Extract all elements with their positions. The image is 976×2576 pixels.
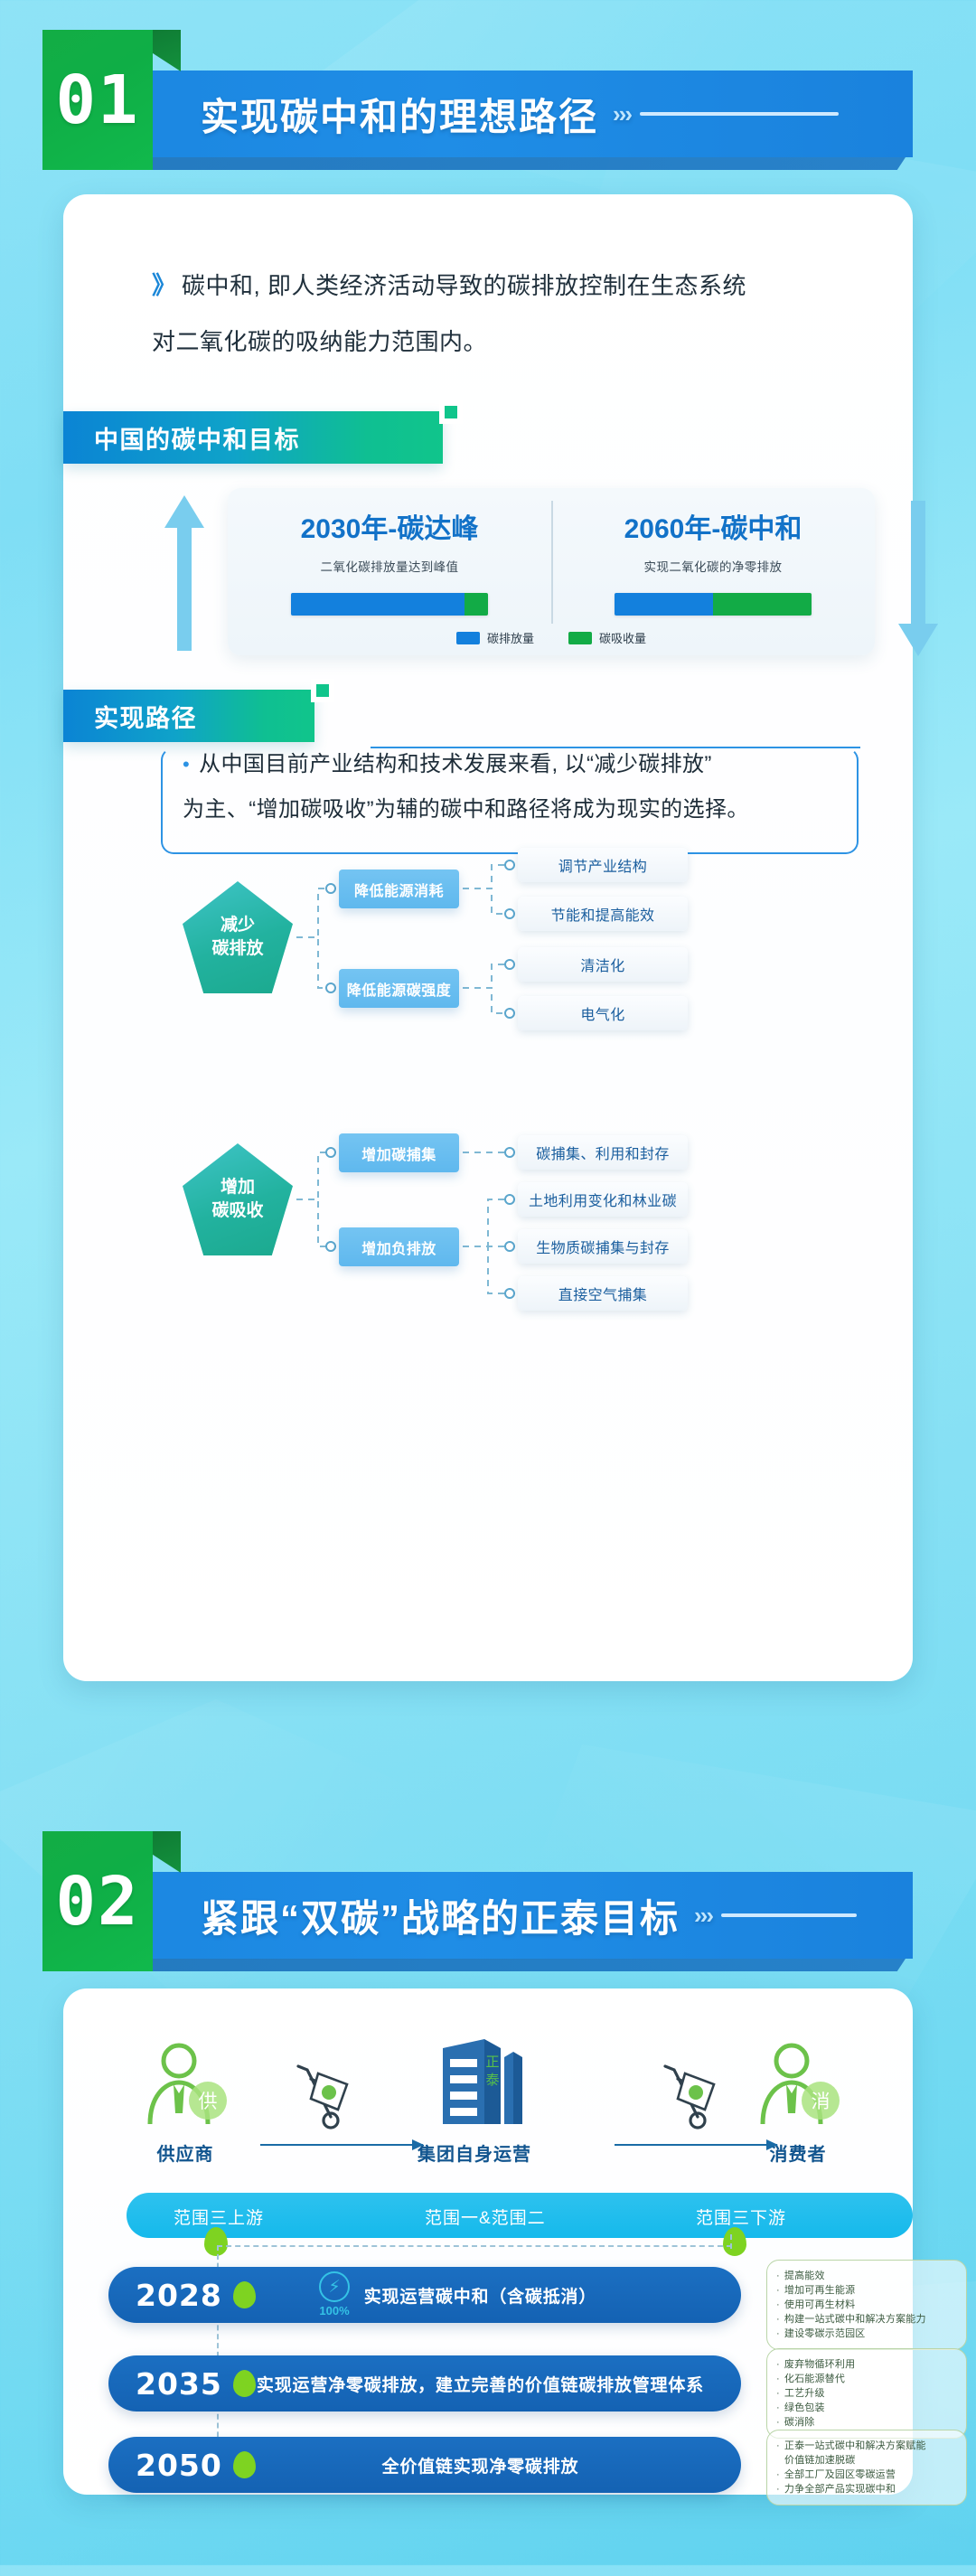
timeline-row-2028[interactable]: 2028 实现运营碳中和（含碳抵消） ⚡ 100%: [108, 2267, 741, 2323]
goal-title: 2030年-碳达峰: [228, 506, 551, 546]
section-header-01: 01 实现碳中和的理想路径 ›››: [0, 0, 976, 194]
tree-leaf-electrification[interactable]: 电气化: [518, 996, 688, 1030]
bar-segment-absorption: [465, 593, 488, 616]
chain-node-consumer: 消 消费者: [748, 2041, 848, 2166]
path-note-box: •从中国目前产业结构和技术发展来看, 以“减少碳排放” 为主、“增加碳吸收”为辅…: [161, 747, 859, 854]
timeline-row-2035[interactable]: 2035 实现运营净零碳排放，建立完善的价值链碳排放管理体系: [108, 2355, 741, 2411]
leaf-label: 碳捕集、利用和封存: [536, 1142, 670, 1163]
section-number-badge: 01: [42, 30, 153, 170]
consumer-person-icon: 消: [748, 2041, 848, 2128]
hand-truck-icon: [291, 2061, 363, 2129]
note-item: 化石能源替代: [776, 2372, 957, 2386]
china-goal-chart: 2030年-碳达峰 二氧化碳排放量达到峰值 2060年-碳中和 实现二氧化碳的净…: [172, 488, 931, 669]
target-timeline: 2028 实现运营碳中和（含碳抵消） ⚡ 100% 提高能效 增加可再生能源 使…: [108, 2251, 922, 2477]
root-line-1: 增加: [221, 1176, 255, 1199]
group-badge-text-2: 泰: [485, 2072, 499, 2088]
section-01-card: 》碳中和, 即人类经济活动导致的碳排放控制在生态系统 对二氧化碳的吸纳能力范围内…: [63, 194, 913, 1681]
mid-label: 降低能源消耗: [354, 879, 444, 900]
chain-arrow-right: [615, 2144, 777, 2146]
section-header-02: 02 紧跟“双碳”战略的正泰目标 ›››: [0, 1801, 976, 1996]
tree-leaf-lulucf[interactable]: 土地利用变化和林业碳: [518, 1182, 688, 1217]
supplier-badge-text: 供: [199, 2091, 218, 2112]
timeline-year: 2035: [136, 2366, 222, 2402]
band-notch-decoration: [311, 679, 334, 702]
stacked-bar-2060: [615, 593, 812, 616]
note-item: 碳消除: [776, 2415, 957, 2430]
hand-truck-icon: [658, 2061, 730, 2129]
note-item: 构建一站式碳中和解决方案能力: [776, 2312, 957, 2327]
mid-label: 增加负排放: [361, 1236, 436, 1258]
chain-node-supplier: 供 供应商: [136, 2041, 235, 2166]
note-item: 全部工厂及园区零碳运营: [776, 2468, 957, 2482]
timeline-note-2050: 正泰一站式碳中和解决方案赋能 价值链加速脱碳 全部工厂及园区零碳运营 力争全部产…: [766, 2430, 967, 2505]
arrow-down-icon: [898, 501, 938, 656]
path-band-label: 实现路径: [94, 699, 197, 734]
timeline-dot: [233, 2370, 256, 2397]
header-rule: [721, 1913, 857, 1917]
goal-subtitle: 实现二氧化碳的净零排放: [551, 557, 875, 575]
section-number-fold: [152, 30, 181, 71]
tree-leaf-ccus[interactable]: 碳捕集、利用和封存: [518, 1135, 688, 1170]
china-goal-band-label: 中国的碳中和目标: [94, 420, 300, 456]
legend-item-emission: 碳排放量: [456, 629, 534, 646]
lightning-bolt-icon: ⚡: [319, 2271, 350, 2302]
tree-mid-reduce-energy-use[interactable]: 降低能源消耗: [339, 870, 459, 908]
tree-leaf-beccs[interactable]: 生物质碳捕集与封存: [518, 1229, 688, 1264]
chain-arrow-right: [260, 2144, 423, 2146]
timeline-dot: [233, 2451, 256, 2478]
scope-label-upstream: 范围三上游: [174, 2205, 264, 2229]
section-header-bar-shadow: [70, 1959, 906, 1971]
leaf-label: 清洁化: [580, 954, 624, 975]
chain-node-label: 集团自身运营: [407, 2139, 542, 2166]
header-rule: [640, 112, 839, 116]
pathway-tree-diagram: 减少 碳排放 降低能源消耗 降低能源碳强度 调节产业结构 节能和提高能效 清洁化…: [127, 881, 913, 1442]
timeline-note-2035: 废弃物循环利用 化石能源替代 工艺升级 绿色包装 碳消除: [766, 2348, 967, 2439]
arrow-up-icon: [164, 495, 204, 651]
section-02-card: 供 供应商: [63, 1988, 913, 2495]
path-band: 实现路径: [63, 690, 314, 742]
tree-leaf-dac[interactable]: 直接空气捕集: [518, 1276, 688, 1311]
timeline-text: 全价值链实现净零碳排放: [256, 2453, 741, 2477]
note-item: 提高能效: [776, 2269, 957, 2283]
note-item: 使用可再生材料: [776, 2298, 957, 2312]
intro-line-1: 碳中和, 即人类经济活动导致的碳排放控制在生态系统: [182, 272, 746, 299]
note-item: 价值链加速脱碳: [776, 2453, 957, 2468]
mid-label: 降低能源碳强度: [347, 978, 452, 1000]
bar-segment-emission: [291, 593, 465, 616]
legend-label-absorption: 碳吸收量: [599, 632, 646, 645]
legend-swatch-absorption: [568, 632, 592, 644]
legend-label-emission: 碳排放量: [487, 632, 534, 645]
path-line-1: 从中国目前产业结构和技术发展来看, 以“减少碳排放”: [199, 752, 712, 776]
timeline-connector-vertical: [730, 2234, 732, 2249]
supplier-person-icon: 供: [136, 2041, 235, 2128]
scope-bar: 范围三上游 范围一&范围二 范围三下游: [127, 2193, 913, 2238]
leaf-label: 生物质碳捕集与封存: [536, 1236, 670, 1257]
section-number-badge: 02: [42, 1831, 153, 1971]
note-item: 增加可再生能源: [776, 2283, 957, 2298]
leaf-label: 节能和提高能效: [551, 903, 655, 925]
timeline-badge-2028: ⚡ 100%: [309, 2271, 360, 2317]
legend-item-absorption: 碳吸收量: [568, 629, 646, 646]
timeline-year: 2050: [136, 2448, 222, 2483]
goal-title: 2060年-碳中和: [551, 506, 875, 546]
consumer-badge-text: 消: [812, 2091, 831, 2112]
value-chain-diagram: 供 供应商: [127, 2041, 913, 2222]
scope-label-own: 范围一&范围二: [425, 2205, 546, 2229]
goal-box: 2030年-碳达峰 二氧化碳排放量达到峰值 2060年-碳中和 实现二氧化碳的净…: [228, 488, 875, 655]
bar-segment-emission: [615, 593, 713, 616]
chevrons-right-icon: ›››: [613, 100, 631, 128]
note-item: 力争全部产品实现碳中和: [776, 2482, 957, 2496]
timeline-year: 2028: [136, 2278, 222, 2313]
factory-building-icon: 正 泰: [407, 2034, 542, 2128]
tree-mid-reduce-carbon-intensity[interactable]: 降低能源碳强度: [339, 969, 459, 1008]
chain-node-group: 正 泰 集团自身运营: [407, 2034, 542, 2166]
leaf-label: 直接空气捕集: [558, 1283, 647, 1304]
tree-mid-negative-emission[interactable]: 增加负排放: [339, 1227, 459, 1266]
note-item: 正泰一站式碳中和解决方案赋能: [776, 2439, 957, 2453]
leaf-label: 土地利用变化和林业碳: [529, 1189, 677, 1210]
timeline-badge-value: 100%: [309, 2304, 360, 2317]
tree-leaf-adjust-industry[interactable]: 调节产业结构: [518, 848, 688, 882]
band-notch-decoration: [439, 400, 463, 424]
root-line-1: 减少: [221, 914, 255, 937]
intro-paragraph: 》碳中和, 即人类经济活动导致的碳排放控制在生态系统 对二氧化碳的吸纳能力范围内…: [152, 258, 866, 370]
group-badge-text-1: 正: [485, 2054, 499, 2070]
note-item: 工艺升级: [776, 2386, 957, 2401]
goal-subtitle: 二氧化碳排放量达到峰值: [228, 557, 551, 575]
note-item: 废弃物循环利用: [776, 2357, 957, 2372]
chain-node-label: 供应商: [136, 2139, 235, 2166]
bullet-icon: •: [183, 753, 190, 776]
china-goal-band: 中国的碳中和目标: [63, 411, 443, 464]
root-line-2: 碳吸收: [211, 1199, 263, 1223]
mid-label: 增加碳捕集: [361, 1142, 436, 1164]
chevrons-right-icon: ›››: [694, 1902, 712, 1930]
bar-segment-absorption: [713, 593, 812, 616]
note-item: 绿色包装: [776, 2401, 957, 2415]
section-title: 实现碳中和的理想路径 ›››: [201, 83, 839, 145]
section-number-fold: [152, 1831, 181, 1873]
tree-leaf-cleanification[interactable]: 清洁化: [518, 947, 688, 982]
chart-legend: 碳排放量 碳吸收量: [228, 629, 875, 646]
tree-mid-increase-capture[interactable]: 增加碳捕集: [339, 1133, 459, 1172]
double-chevron-icon: 》: [152, 272, 173, 299]
leaf-label: 调节产业结构: [558, 854, 647, 876]
timeline-connector-horizontal: [217, 2245, 732, 2247]
timeline-note-2028: 提高能效 增加可再生能源 使用可再生材料 构建一站式碳中和解决方案能力 建设零碳…: [766, 2260, 967, 2350]
stacked-bar-2030: [291, 593, 488, 616]
section-header-bar-shadow: [70, 157, 906, 170]
timeline-row-2050[interactable]: 2050 全价值链实现净零碳排放: [108, 2437, 741, 2493]
note-item: 建设零碳示范园区: [776, 2327, 957, 2341]
section-title: 紧跟“双碳”战略的正泰目标 ›››: [201, 1885, 857, 1946]
tree-leaf-energy-efficiency[interactable]: 节能和提高能效: [518, 897, 688, 931]
path-line-2: 为主、“增加碳吸收”为辅的碳中和路径将成为现实的选择。: [183, 797, 749, 822]
legend-swatch-emission: [456, 632, 480, 644]
scope-label-downstream: 范围三下游: [696, 2205, 786, 2229]
intro-line-2: 对二氧化碳的吸纳能力范围内。: [152, 328, 487, 355]
root-line-2: 碳排放: [211, 937, 263, 961]
leaf-label: 电气化: [580, 1002, 624, 1024]
section-title-text: 实现碳中和的理想路径: [201, 87, 598, 142]
timeline-text: 实现运营净零碳排放，建立完善的价值链碳排放管理体系: [256, 2372, 741, 2396]
section-title-text: 紧跟“双碳”战略的正泰目标: [201, 1888, 680, 1943]
path-note-text: •从中国目前产业结构和技术发展来看, 以“减少碳排放” 为主、“增加碳吸收”为辅…: [183, 742, 851, 832]
timeline-dot: [233, 2281, 256, 2308]
